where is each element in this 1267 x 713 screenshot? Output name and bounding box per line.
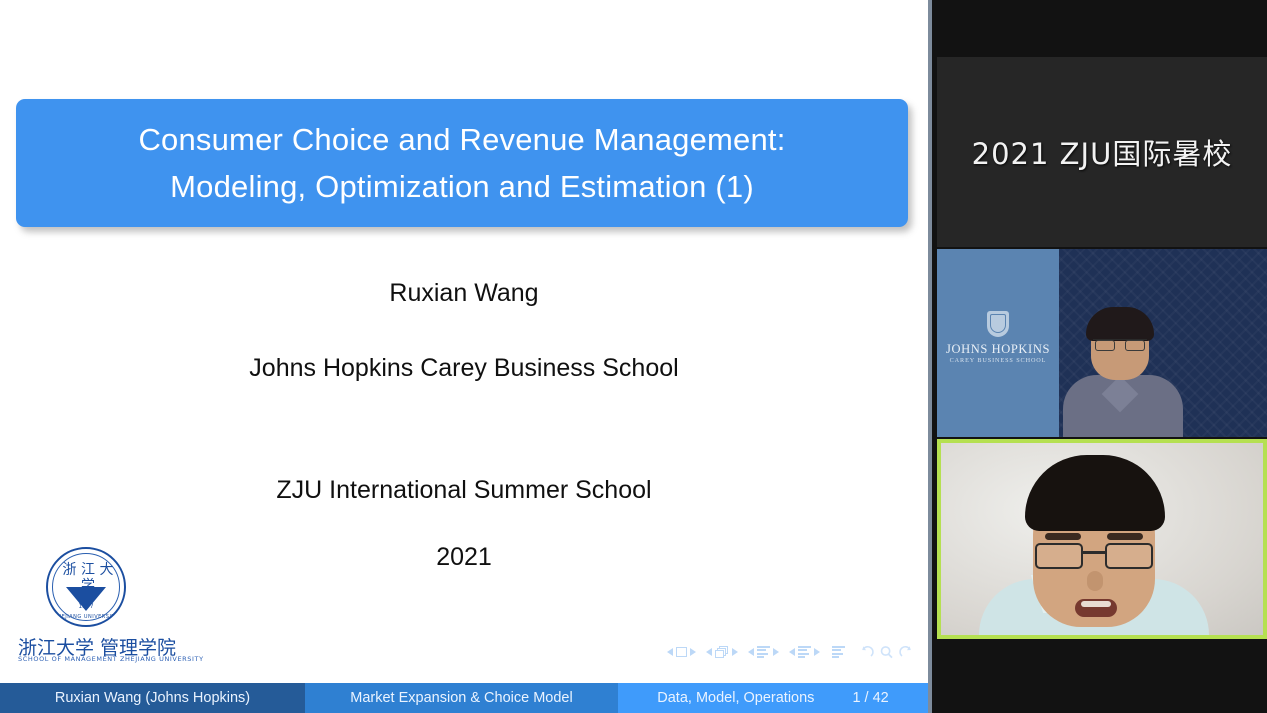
footer-page-number: 1 / 42: [852, 690, 888, 706]
video-participant-panel: 2021 ZJU国际暑校 JOHNS HOPKINS CAREY BUSINES…: [928, 0, 1267, 713]
nav-presentation-group[interactable]: [832, 646, 845, 659]
section-icon[interactable]: [798, 646, 811, 659]
frames-icon[interactable]: [715, 646, 729, 658]
footer-author-text: Ruxian Wang (Johns Hopkins): [55, 690, 250, 706]
johns-hopkins-name: JOHNS HOPKINS: [937, 342, 1059, 357]
virtual-background-left-band: JOHNS HOPKINS CAREY BUSINESS SCHOOL: [937, 249, 1059, 437]
slide-title-line-1: Consumer Choice and Revenue Management:: [138, 116, 785, 163]
prev-subsection-icon[interactable]: [748, 648, 754, 656]
zju-seal-icon: 浙 江 大 学 1897 ZHEJIANG UNIVERSITY: [46, 547, 126, 627]
nav-frame-group[interactable]: [706, 646, 738, 658]
prev-frame-icon[interactable]: [706, 648, 712, 656]
zju-wordmark-subtitle: SCHOOL OF MANAGEMENT ZHEJIANG UNIVERSITY: [18, 655, 168, 664]
zju-seal-chinese: 浙 江 大 学: [58, 562, 118, 578]
prev-slide-icon[interactable]: [667, 648, 673, 656]
johns-hopkins-subtitle: CAREY BUSINESS SCHOOL: [937, 357, 1059, 364]
screen-share-meeting-view: Consumer Choice and Revenue Management: …: [0, 0, 1267, 713]
subsection-icon[interactable]: [757, 646, 770, 659]
panel-divider: [928, 0, 932, 713]
active-speaker-webcam-figure: [941, 443, 1263, 635]
presenter-webcam-figure: [1063, 312, 1183, 437]
nav-slide-group[interactable]: [667, 647, 696, 657]
slide-body: Ruxian Wang Johns Hopkins Carey Business…: [0, 255, 928, 572]
video-tile-active-speaker[interactable]: [937, 439, 1267, 639]
forward-arrow-icon[interactable]: [899, 645, 914, 659]
footer-subsection-cell: Data, Model, Operations 1 / 42: [618, 683, 928, 713]
video-tile-presenter[interactable]: JOHNS HOPKINS CAREY BUSINESS SCHOOL: [937, 249, 1267, 437]
prev-section-icon[interactable]: [789, 648, 795, 656]
nav-subsection-group[interactable]: [748, 646, 779, 659]
footer-section-cell: Market Expansion & Choice Model: [305, 683, 618, 713]
nav-history-group[interactable]: [859, 645, 914, 659]
next-subsection-icon[interactable]: [773, 648, 779, 656]
video-tile-title-card[interactable]: 2021 ZJU国际暑校: [937, 57, 1267, 247]
next-frame-icon[interactable]: [732, 648, 738, 656]
beamer-footline: Ruxian Wang (Johns Hopkins) Market Expan…: [0, 683, 928, 713]
slide-icon[interactable]: [676, 647, 687, 657]
footer-subsection-text: Data, Model, Operations: [657, 690, 814, 706]
zju-seal-arc-text: ZHEJIANG UNIVERSITY: [48, 614, 124, 620]
footer-section-text: Market Expansion & Choice Model: [350, 690, 572, 706]
zhejiang-university-logo: 浙 江 大 学 1897 ZHEJIANG UNIVERSITY 浙江大学 管理…: [18, 547, 168, 659]
shared-slide-area[interactable]: Consumer Choice and Revenue Management: …: [0, 0, 928, 713]
slide-title-banner: Consumer Choice and Revenue Management: …: [16, 99, 908, 227]
back-arrow-icon[interactable]: [859, 645, 874, 659]
slide-author: Ruxian Wang: [0, 279, 928, 308]
johns-hopkins-shield-icon: [987, 311, 1009, 337]
slide-canvas: Consumer Choice and Revenue Management: …: [0, 0, 928, 683]
footer-author-cell: Ruxian Wang (Johns Hopkins): [0, 683, 305, 713]
search-icon[interactable]: [879, 645, 894, 659]
next-slide-icon[interactable]: [690, 648, 696, 656]
slide-title-line-2: Modeling, Optimization and Estimation (1…: [170, 163, 754, 210]
beamer-navigation-symbols[interactable]: [667, 645, 914, 659]
title-card-text: 2021 ZJU国际暑校: [972, 131, 1233, 173]
nav-section-group[interactable]: [789, 646, 820, 659]
slide-affiliation: Johns Hopkins Carey Business School: [0, 354, 928, 383]
slide-event: ZJU International Summer School: [0, 476, 928, 505]
presentation-icon[interactable]: [832, 646, 845, 659]
next-section-icon[interactable]: [814, 648, 820, 656]
zju-seal-year: 1897: [48, 603, 124, 610]
